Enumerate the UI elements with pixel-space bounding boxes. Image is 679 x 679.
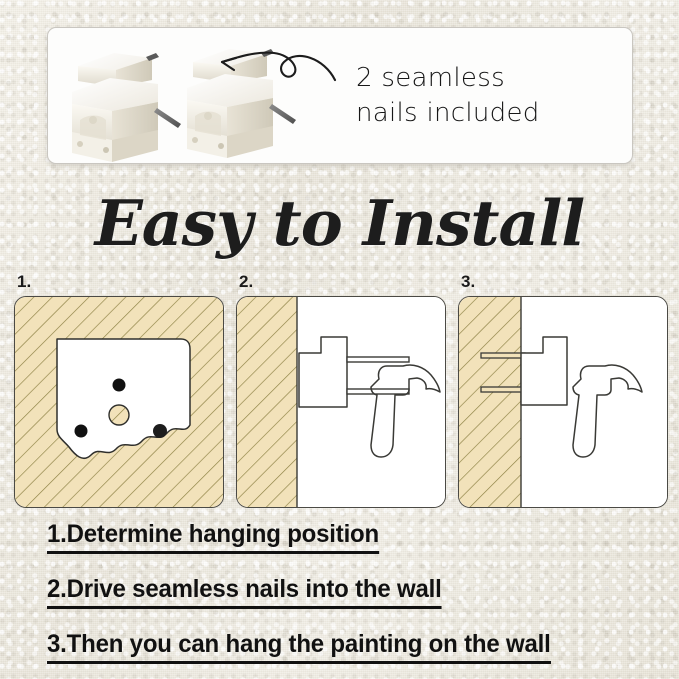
step-3: 3. bbox=[458, 272, 666, 508]
nail-hole-left bbox=[75, 425, 88, 438]
step-2: 2. bbox=[236, 272, 444, 508]
instruction-line-2: 2.Drive seamless nails into the wall bbox=[47, 575, 442, 609]
nail-lower-driven bbox=[481, 387, 525, 392]
curly-arrow-icon bbox=[48, 28, 348, 163]
product-photo-group bbox=[48, 28, 348, 163]
step-1: 1. bbox=[14, 272, 222, 508]
nail-hole-right bbox=[153, 424, 167, 438]
step-3-figure bbox=[458, 296, 668, 508]
nail-hole-top bbox=[113, 379, 126, 392]
caption-line-2: nails included bbox=[356, 96, 632, 130]
wall-section bbox=[237, 297, 297, 507]
step-2-number: 2. bbox=[236, 272, 444, 296]
step-3-number: 3. bbox=[458, 272, 666, 296]
caption-line-1: 2 seamless bbox=[356, 61, 632, 95]
hook-and-hammer-before-diagram bbox=[237, 297, 445, 507]
step-2-figure bbox=[236, 296, 446, 508]
page-title: Easy to Install bbox=[0, 186, 679, 260]
nail-lower bbox=[347, 389, 409, 394]
step-1-number: 1. bbox=[14, 272, 222, 296]
instruction-line-1: 1.Determine hanging position bbox=[47, 520, 379, 554]
wall-with-mount-plate-diagram bbox=[15, 297, 223, 507]
nails-included-caption: 2 seamless nails included bbox=[348, 61, 632, 130]
hook-nailed-in-diagram bbox=[459, 297, 667, 507]
wall-section bbox=[459, 297, 521, 507]
step-figures-row: 1. 2. bbox=[14, 272, 666, 508]
step-1-figure bbox=[14, 296, 224, 508]
nail-upper-driven bbox=[481, 353, 525, 358]
nail-upper bbox=[347, 357, 409, 362]
seamless-nails-card: 2 seamless nails included bbox=[47, 27, 633, 164]
open-center-hole bbox=[109, 405, 129, 425]
instruction-line-3: 3.Then you can hang the painting on the … bbox=[47, 630, 551, 664]
instruction-list: 1.Determine hanging position 2.Drive sea… bbox=[47, 520, 657, 664]
